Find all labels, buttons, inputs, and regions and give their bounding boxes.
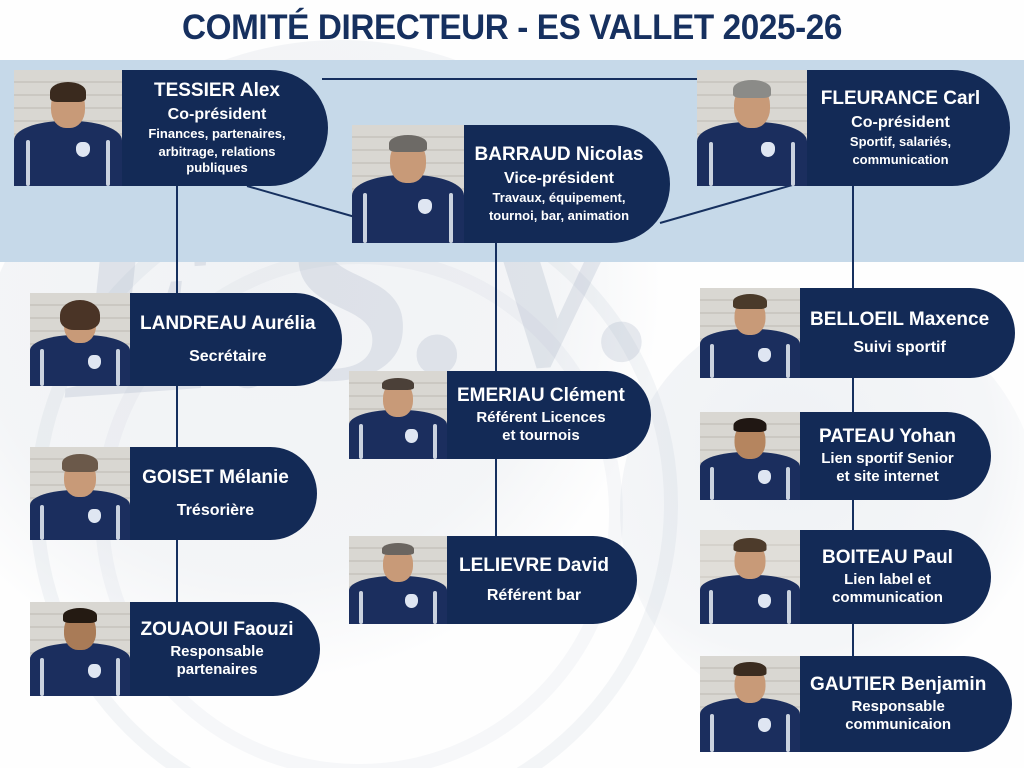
member-info-fleurance: FLEURANCE Carl Co-président Sportif, sal…	[807, 70, 1010, 186]
photo-belloeil-maxence	[700, 288, 800, 378]
member-name: FLEURANCE Carl	[821, 88, 980, 109]
member-info-belloeil: BELLOEIL Maxence Suivi sportif	[800, 288, 1015, 378]
photo-landreau-aurelia	[30, 293, 130, 386]
member-role: Référent Licences	[476, 409, 605, 427]
member-name: EMERIAU Clément	[457, 385, 625, 406]
member-name: LELIEVRE David	[459, 555, 609, 576]
member-role: Suivi sportif	[853, 338, 945, 357]
connector-barraud-middle	[495, 243, 497, 371]
member-desc-line1: communicaion	[845, 716, 951, 734]
photo-lelievre-david	[349, 536, 447, 624]
member-desc-line1: communication	[832, 589, 943, 607]
member-role: Responsable	[170, 643, 263, 661]
member-name: PATEAU Yohan	[819, 426, 956, 447]
member-desc-line1: Travaux, équipement,	[493, 190, 626, 206]
member-info-zouaoui: ZOUAOUI Faouzi Responsable partenaires	[130, 602, 320, 696]
member-card-fleurance[interactable]: FLEURANCE Carl Co-président Sportif, sal…	[697, 70, 1010, 186]
member-name: TESSIER Alex	[154, 80, 280, 101]
photo-pateau-yohan	[700, 412, 800, 500]
member-desc-line2: communication	[852, 152, 948, 168]
connector-right-2	[852, 500, 854, 530]
member-card-lelievre[interactable]: LELIEVRE David Référent bar	[349, 536, 637, 624]
member-info-landreau: LANDREAU Aurélia Secrétaire	[130, 293, 342, 386]
connector-middle-1	[495, 458, 497, 536]
member-role: Co-président	[168, 105, 267, 124]
photo-tessier-alex	[14, 70, 122, 186]
page-title: COMITÉ DIRECTEUR - ES VALLET 2025-26	[26, 8, 999, 48]
member-name: BARRAUD Nicolas	[475, 144, 644, 165]
member-name: BOITEAU Paul	[822, 547, 953, 568]
photo-boiteau-paul	[700, 530, 800, 624]
member-desc-line2: tournoi, bar, animation	[489, 208, 629, 224]
member-role: Co-président	[851, 113, 950, 132]
member-card-belloeil[interactable]: BELLOEIL Maxence Suivi sportif	[700, 288, 991, 378]
photo-gautier-benjamin	[700, 656, 800, 752]
member-card-emeriau[interactable]: EMERIAU Clément Référent Licences et tou…	[349, 371, 637, 459]
member-info-gautier: GAUTIER Benjamin Responsable communicaio…	[800, 656, 1012, 752]
member-info-barraud: BARRAUD Nicolas Vice-président Travaux, …	[464, 125, 670, 243]
connector-tessier-left-col	[176, 186, 178, 294]
connector-right-3	[852, 624, 854, 656]
connector-left-1	[176, 385, 178, 447]
member-info-tessier: TESSIER Alex Co-président Finances, part…	[122, 70, 328, 186]
member-info-emeriau: EMERIAU Clément Référent Licences et tou…	[447, 371, 651, 459]
photo-fleurance-carl	[697, 70, 807, 186]
member-info-boiteau: BOITEAU Paul Lien label et communication	[800, 530, 991, 624]
member-desc-line1: partenaires	[177, 661, 258, 679]
member-name: GOISET Mélanie	[142, 467, 289, 488]
member-role: Secrétaire	[189, 347, 266, 366]
member-role: Trésorière	[177, 501, 254, 520]
member-card-goiset[interactable]: GOISET Mélanie Trésorière	[30, 447, 317, 540]
member-card-pateau[interactable]: PATEAU Yohan Lien sportif Senior et site…	[700, 412, 991, 500]
member-card-landreau[interactable]: LANDREAU Aurélia Secrétaire	[30, 293, 320, 386]
member-role: Vice-président	[504, 169, 614, 188]
member-info-lelievre: LELIEVRE David Référent bar	[447, 536, 637, 624]
member-name: LANDREAU Aurélia	[140, 313, 316, 334]
member-name: ZOUAOUI Faouzi	[140, 619, 293, 640]
member-name: BELLOEIL Maxence	[810, 309, 989, 330]
member-info-goiset: GOISET Mélanie Trésorière	[130, 447, 317, 540]
member-card-boiteau[interactable]: BOITEAU Paul Lien label et communication	[700, 530, 991, 624]
member-card-tessier[interactable]: TESSIER Alex Co-président Finances, part…	[14, 70, 328, 186]
photo-zouaoui-faouzi	[30, 602, 130, 696]
member-card-zouaoui[interactable]: ZOUAOUI Faouzi Responsable partenaires	[30, 602, 320, 696]
photo-goiset-melanie	[30, 447, 130, 540]
member-desc-line1: Sportif, salariés,	[850, 134, 951, 150]
member-info-pateau: PATEAU Yohan Lien sportif Senior et site…	[800, 412, 991, 500]
member-desc-line2: arbitrage, relations publiques	[132, 144, 302, 176]
member-role: Référent bar	[487, 586, 581, 605]
connector-left-2	[176, 540, 178, 602]
member-card-gautier[interactable]: GAUTIER Benjamin Responsable communicaio…	[700, 656, 991, 752]
member-desc-line1: et site internet	[836, 468, 939, 486]
member-role: Lien sportif Senior	[821, 450, 954, 468]
member-name: GAUTIER Benjamin	[810, 674, 986, 695]
connector-copresidents	[322, 78, 702, 80]
member-desc-line1: Finances, partenaires,	[148, 126, 285, 142]
member-card-barraud[interactable]: BARRAUD Nicolas Vice-président Travaux, …	[352, 125, 670, 243]
connector-right-1	[852, 378, 854, 412]
member-role: Responsable	[851, 698, 944, 716]
photo-emeriau-clement	[349, 371, 447, 459]
connector-fleurance-right-col	[852, 186, 854, 290]
photo-barraud-nicolas	[352, 125, 464, 243]
member-role: Lien label et	[844, 571, 931, 589]
member-desc-line1: et tournois	[502, 427, 580, 445]
org-chart-canvas: E.S.V. COMITÉ DIRECTEUR - ES VALLET 2025…	[0, 0, 1024, 768]
